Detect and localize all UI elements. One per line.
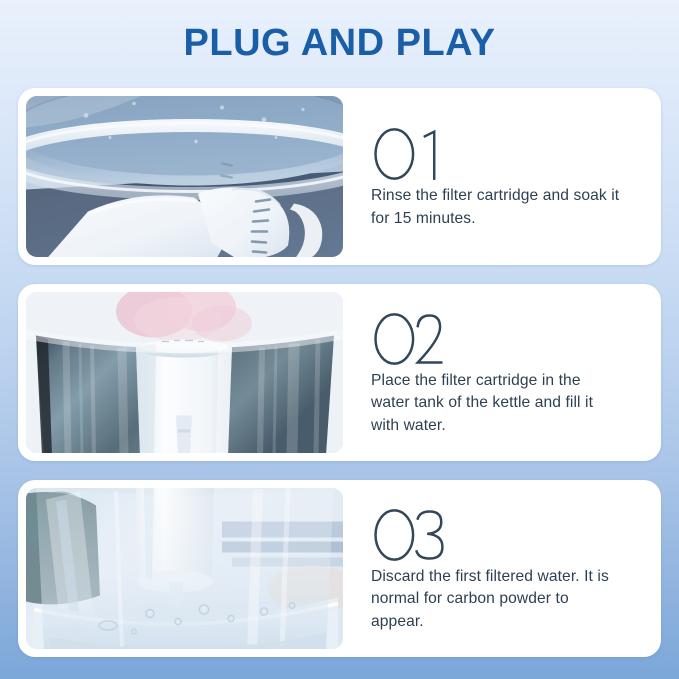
step-number-02 bbox=[372, 312, 627, 366]
step-card-02: Place the filter cartridge in the water … bbox=[18, 284, 661, 461]
step-text-01: Rinse the filter cartridge and soak it f… bbox=[371, 185, 623, 230]
step-text-02: Place the filter cartridge in the water … bbox=[371, 370, 623, 437]
step-body-03: Discard the first filtered water. It is … bbox=[343, 488, 653, 649]
step-image-03 bbox=[26, 488, 343, 649]
step-body-01: Rinse the filter cartridge and soak it f… bbox=[343, 96, 653, 257]
page-title: PLUG AND PLAY bbox=[0, 0, 679, 62]
step-body-02: Place the filter cartridge in the water … bbox=[343, 292, 653, 453]
steps-list: Rinse the filter cartridge and soak it f… bbox=[18, 88, 661, 657]
step-number-01 bbox=[372, 127, 627, 181]
step-image-02 bbox=[26, 292, 343, 453]
step-text-03: Discard the first filtered water. It is … bbox=[371, 566, 623, 633]
step-number-03 bbox=[372, 508, 627, 562]
step-image-01 bbox=[26, 96, 343, 257]
step-card-01: Rinse the filter cartridge and soak it f… bbox=[18, 88, 661, 265]
step-card-03: Discard the first filtered water. It is … bbox=[18, 480, 661, 657]
